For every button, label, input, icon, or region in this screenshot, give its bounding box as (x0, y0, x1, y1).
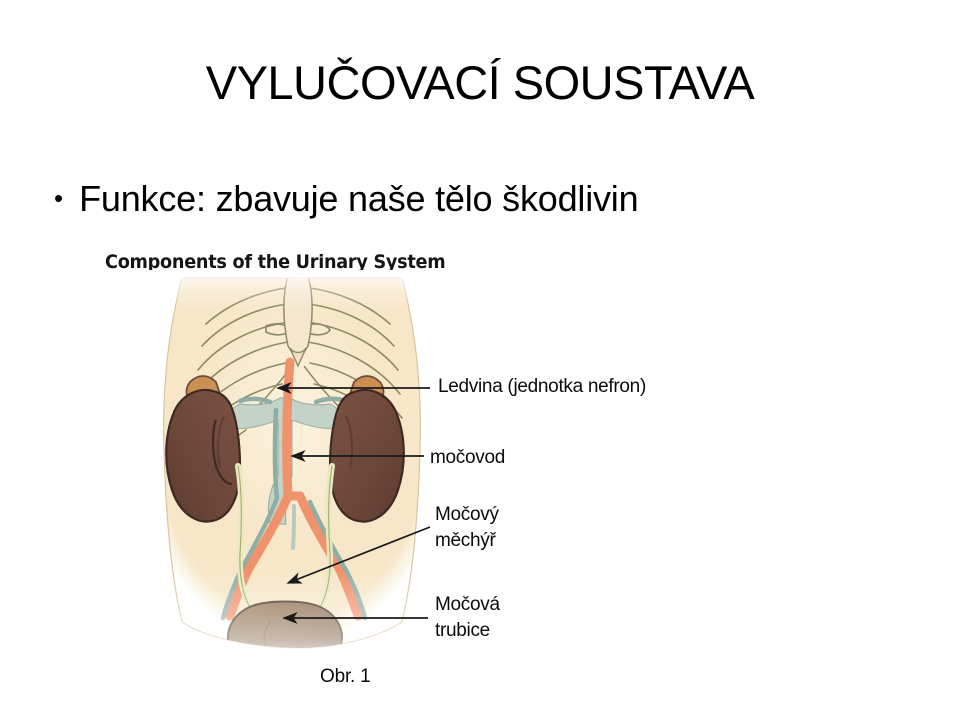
page-title: VYLUČOVACÍ SOUSTAVA (0, 58, 960, 107)
leader-line-bladder (288, 527, 430, 583)
bullet-list-item: • Funkce: zbavuje naše tělo škodlivin (54, 178, 638, 220)
callout-label-bladder: Močový měchýř (435, 502, 499, 554)
callout-label-kidney: Ledvina (jednotka nefron) (438, 374, 646, 400)
callout-leader-lines (0, 240, 960, 720)
urinary-system-figure: Components of the Urinary System (0, 240, 960, 720)
callout-label-ureter: močovod (430, 445, 505, 471)
bullet-point-icon: • (54, 185, 63, 211)
bullet-item-label: Funkce: zbavuje naše tělo škodlivin (79, 178, 638, 220)
callout-label-urethra: Močová trubice (435, 592, 500, 644)
figure-caption: Obr. 1 (320, 666, 371, 688)
